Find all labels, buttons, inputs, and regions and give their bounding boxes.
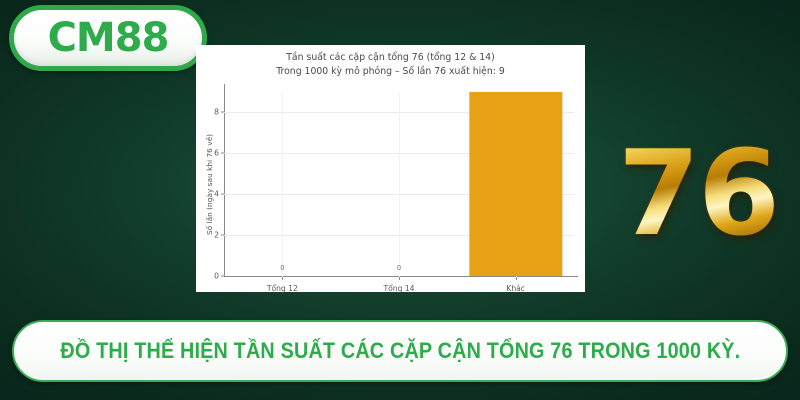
chart-title-line2: Trong 1000 kỳ mô phỏng – Số lần 76 xuất … <box>196 65 585 79</box>
x-axis-tick-mark <box>516 277 517 280</box>
gridline-vertical <box>282 92 283 277</box>
gold-number-decoration: 76 <box>600 126 796 260</box>
chart-title-line1: Tần suất các cặp cận tổng 76 (tổng 12 & … <box>196 51 585 65</box>
y-axis-tick-mark <box>221 276 224 277</box>
gridline-vertical <box>399 92 400 277</box>
y-axis-tick-label: 4 <box>214 190 219 199</box>
y-axis-tick-label: 6 <box>214 149 219 158</box>
x-axis-tick-label: Tổng 12 <box>267 284 298 293</box>
bar-value-label: 0 <box>280 264 284 272</box>
brand-logo-text: CM88 <box>48 18 169 58</box>
bar <box>469 92 562 276</box>
y-axis-tick-mark <box>221 153 224 154</box>
brand-logo: CM88 <box>9 5 207 71</box>
x-axis-spine <box>224 276 578 277</box>
x-axis-tick-label: Tổng 14 <box>384 284 415 293</box>
y-axis-title: Số lần (ngày sau khi 76 về) <box>205 92 217 277</box>
y-axis-tick-mark <box>221 235 224 236</box>
y-axis-tick-label: 2 <box>214 231 219 240</box>
y-axis-tick-label: 0 <box>214 272 219 281</box>
y-axis-tick-label: 8 <box>214 108 219 117</box>
gold-number-text: 76 <box>618 134 778 252</box>
plot-area: 024680Tổng 120Tổng 14Khác <box>224 92 574 277</box>
y-axis-tick-mark <box>221 194 224 195</box>
plot-inner: 024680Tổng 120Tổng 14Khác <box>224 92 574 277</box>
x-axis-tick-mark <box>282 277 283 280</box>
chart-title: Tần suất các cặp cận tổng 76 (tổng 12 & … <box>196 51 585 79</box>
chart-panel: Tần suất các cặp cận tổng 76 (tổng 12 & … <box>196 45 585 292</box>
x-axis-tick-label: Khác <box>506 284 525 293</box>
y-axis-title-text: Số lần (ngày sau khi 76 về) <box>205 134 214 235</box>
bar-value-label: 0 <box>397 264 401 272</box>
bottom-banner-text: ĐỒ THỊ THỂ HIỆN TẦN SUẤT CÁC CẶP CẬN TỔN… <box>60 338 740 364</box>
x-axis-tick-mark <box>399 277 400 280</box>
bottom-banner: ĐỒ THỊ THỂ HIỆN TẦN SUẤT CÁC CẶP CẬN TỔN… <box>12 320 788 382</box>
y-axis-tick-mark <box>221 112 224 113</box>
